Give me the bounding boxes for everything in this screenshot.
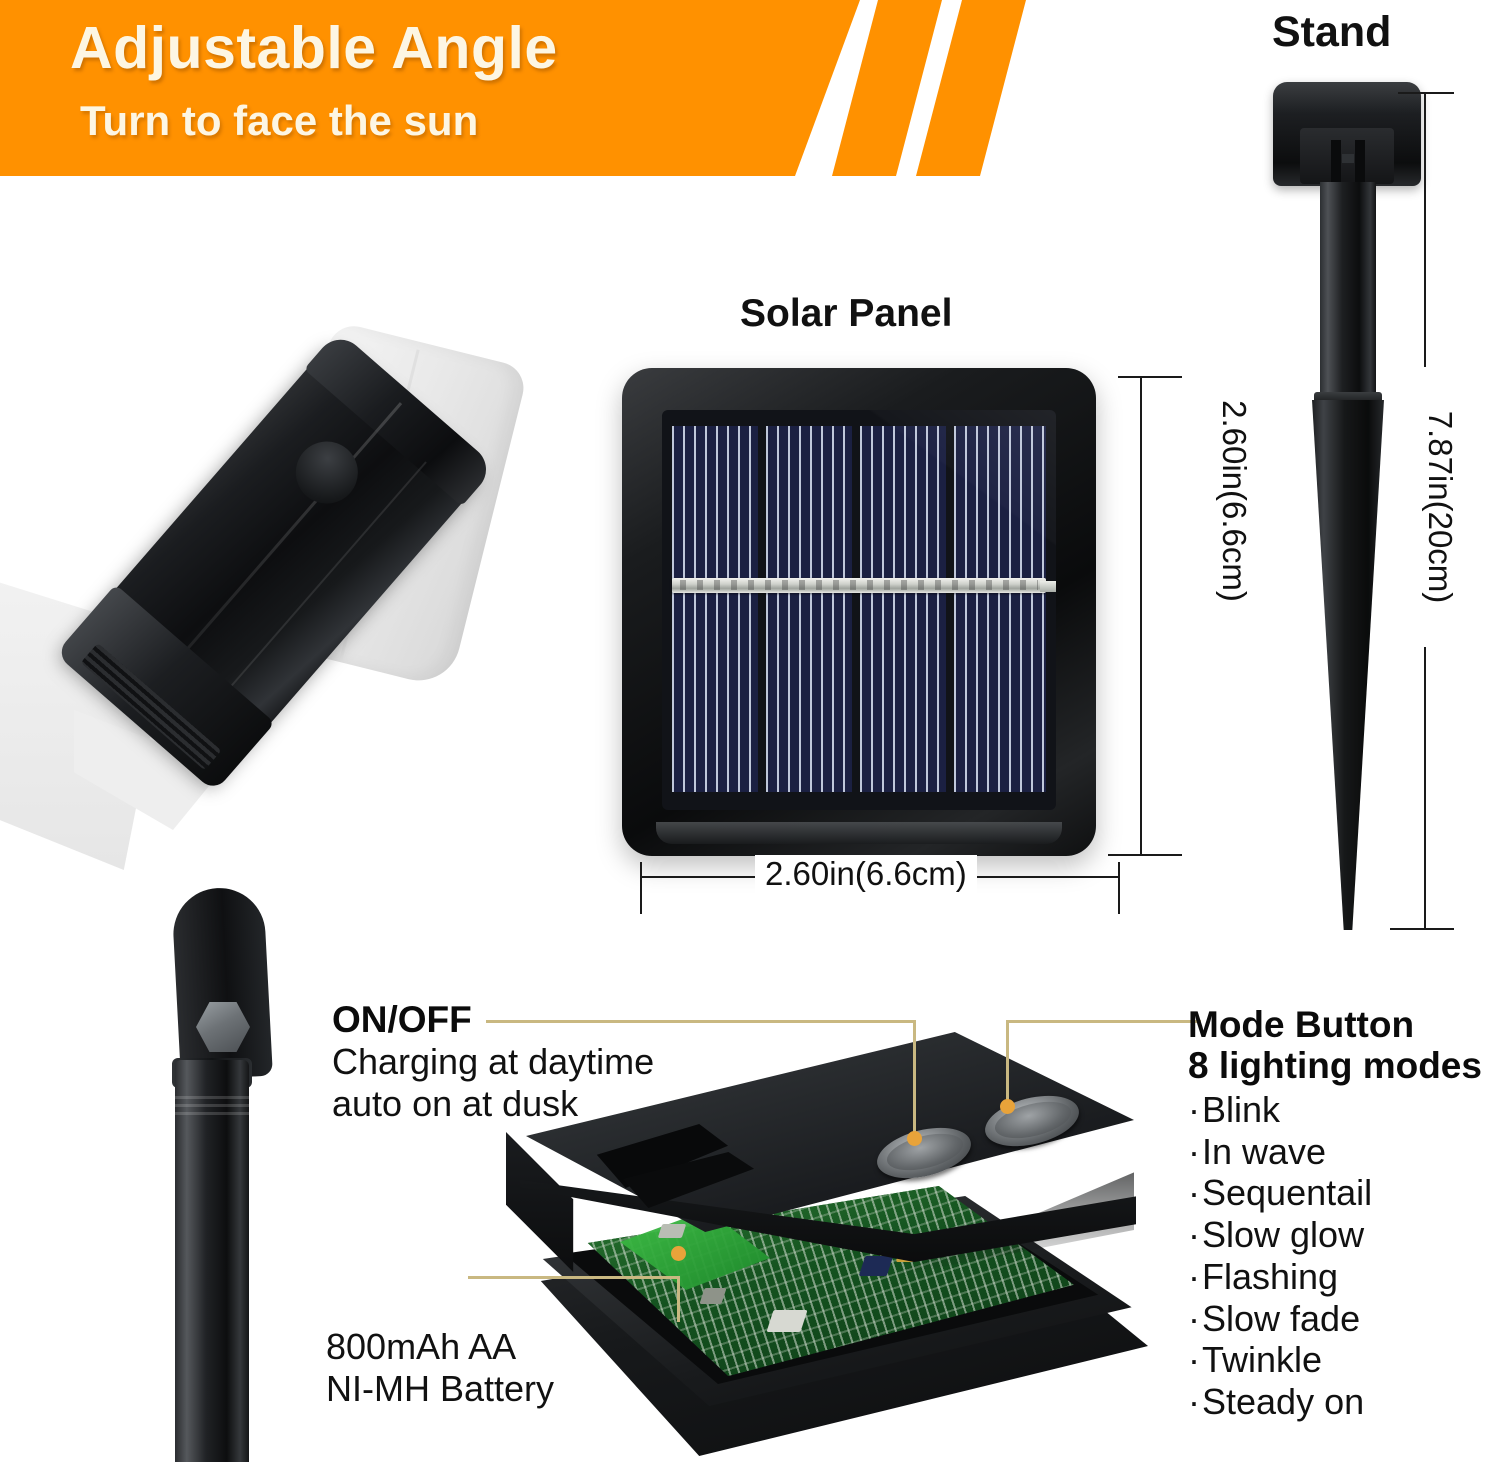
onoff-callout-line-1: Charging at daytime	[332, 1041, 692, 1083]
battery-callout: 800mAh AA NI-MH Battery	[326, 1326, 554, 1411]
mode-callout: Mode Button 8 lighting modes Blink In wa…	[1188, 1004, 1494, 1423]
list-item: Twinkle	[1188, 1339, 1494, 1381]
panel-height-extension-bottom	[1108, 854, 1182, 856]
adjustable-lamp-illustration	[0, 240, 545, 1462]
list-item: Slow fade	[1188, 1298, 1494, 1340]
pole-ring	[175, 1112, 249, 1115]
product-infographic: Adjustable Angle Turn to face the sun So…	[0, 0, 1494, 1462]
onoff-leader-dot	[907, 1131, 922, 1146]
mode-callout-title: Mode Button	[1188, 1004, 1494, 1045]
battery-callout-line-2: NI-MH Battery	[326, 1368, 554, 1410]
panel-width-dimension-label: 2.60in(6.6cm)	[755, 855, 977, 893]
stand-height-extension-bottom	[1390, 928, 1454, 930]
panel-height-dimension-line	[1140, 376, 1142, 856]
solar-cell-group	[766, 426, 852, 792]
stand-ground-spike	[1312, 400, 1384, 930]
solar-cell-group	[672, 426, 758, 792]
onoff-callout-title: ON/OFF	[332, 1000, 692, 1041]
onoff-leader-vertical	[913, 1020, 916, 1142]
panel-width-extension-left	[640, 862, 642, 914]
battery-leader-vertical	[677, 1276, 680, 1322]
battery-leader-horizontal	[468, 1276, 680, 1279]
battery-leader-dot	[671, 1246, 686, 1261]
solar-panel-bottom-lip	[656, 822, 1062, 844]
stand-head-notch-center	[1342, 154, 1354, 163]
stand-height-dimension-label: 7.87in(20cm)	[1419, 367, 1461, 647]
panel-height-dimension-label: 2.60in(6.6cm)	[1213, 361, 1255, 641]
list-item: In wave	[1188, 1131, 1494, 1173]
mode-callout-subtitle: 8 lighting modes	[1188, 1045, 1494, 1086]
pole-ring	[175, 1096, 249, 1099]
mode-leader-vertical	[1006, 1020, 1009, 1110]
solar-cell-busbar-texture	[680, 580, 1038, 590]
mode-leader-horizontal	[1006, 1020, 1201, 1023]
banner-title: Adjustable Angle	[70, 14, 558, 82]
list-item: Blink	[1188, 1089, 1494, 1131]
panel-height-extension-top	[1118, 376, 1182, 378]
list-item: Slow glow	[1188, 1214, 1494, 1256]
onoff-callout: ON/OFF Charging at daytime auto on at du…	[332, 1000, 692, 1126]
pcb-chip	[766, 1310, 807, 1332]
stand-label: Stand	[1272, 8, 1391, 57]
header-banner: Adjustable Angle Turn to face the sun	[0, 0, 900, 176]
stand-head-notch-right	[1355, 140, 1365, 184]
mode-leader-dot	[1000, 1099, 1015, 1114]
stand-head-notch-left	[1331, 140, 1341, 184]
lamp-pole	[175, 1060, 249, 1462]
panel-width-extension-right	[1118, 862, 1120, 914]
stand-height-extension-top	[1398, 92, 1454, 94]
solar-panel-housing	[622, 368, 1096, 856]
banner-subtitle: Turn to face the sun	[80, 97, 478, 145]
solar-panel-cell-area	[662, 410, 1056, 810]
lighting-modes-list: Blink In wave Sequentail Slow glow Flash…	[1188, 1089, 1494, 1423]
list-item: Steady on	[1188, 1381, 1494, 1423]
battery-callout-line-1: 800mAh AA	[326, 1326, 554, 1368]
solar-cell-group	[860, 426, 946, 792]
list-item: Flashing	[1188, 1256, 1494, 1298]
list-item: Sequentail	[1188, 1172, 1494, 1214]
solar-panel-label: Solar Panel	[740, 292, 952, 336]
pole-ring	[175, 1104, 249, 1107]
onoff-callout-line-2: auto on at dusk	[332, 1083, 692, 1125]
